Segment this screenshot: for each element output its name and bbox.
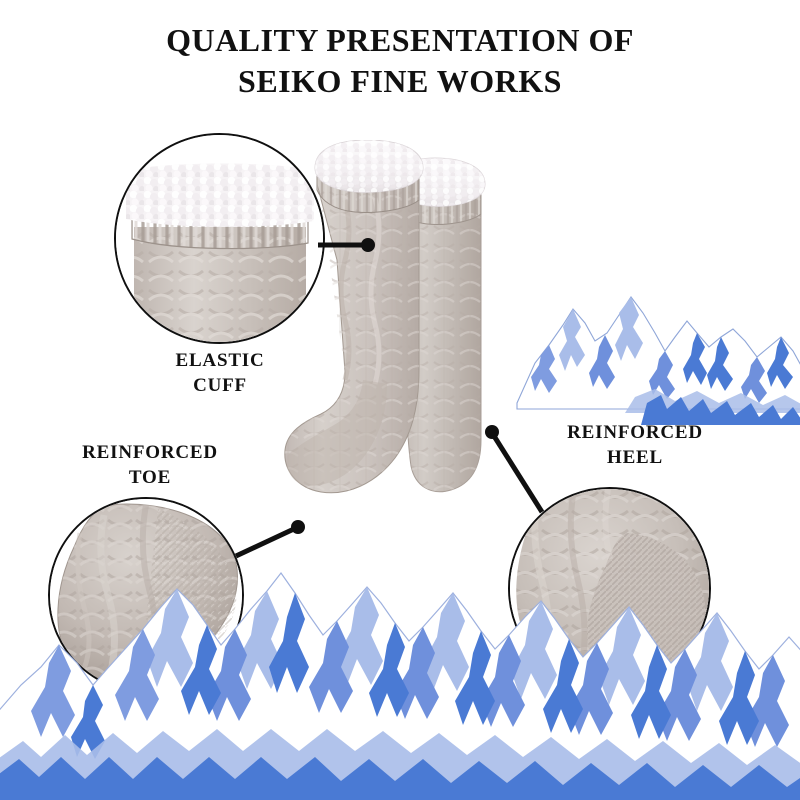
label-reinforced-toe: REINFORCED TOE [40,440,260,490]
label-reinforced-toe-line-1: REINFORCED [40,440,260,465]
callout-circle-elastic-cuff [114,133,325,344]
title-line-1: QUALITY PRESENTATION OF [0,20,800,61]
label-reinforced-heel-line-2: HEEL [525,445,745,470]
callout-circle-reinforced-heel [508,487,711,690]
page-title: QUALITY PRESENTATION OF SEIKO FINE WORKS [0,20,800,102]
callout-circle-reinforced-toe [48,497,244,693]
label-elastic-cuff: ELASTIC CUFF [120,348,320,398]
title-line-2: SEIKO FINE WORKS [0,61,800,102]
product-infographic: QUALITY PRESENTATION OF SEIKO FINE WORKS [0,0,800,800]
label-elastic-cuff-line-2: CUFF [120,373,320,398]
label-reinforced-heel: REINFORCED HEEL [525,420,745,470]
label-reinforced-toe-line-2: TOE [40,465,260,490]
label-reinforced-heel-line-1: REINFORCED [525,420,745,445]
label-elastic-cuff-line-1: ELASTIC [120,348,320,373]
